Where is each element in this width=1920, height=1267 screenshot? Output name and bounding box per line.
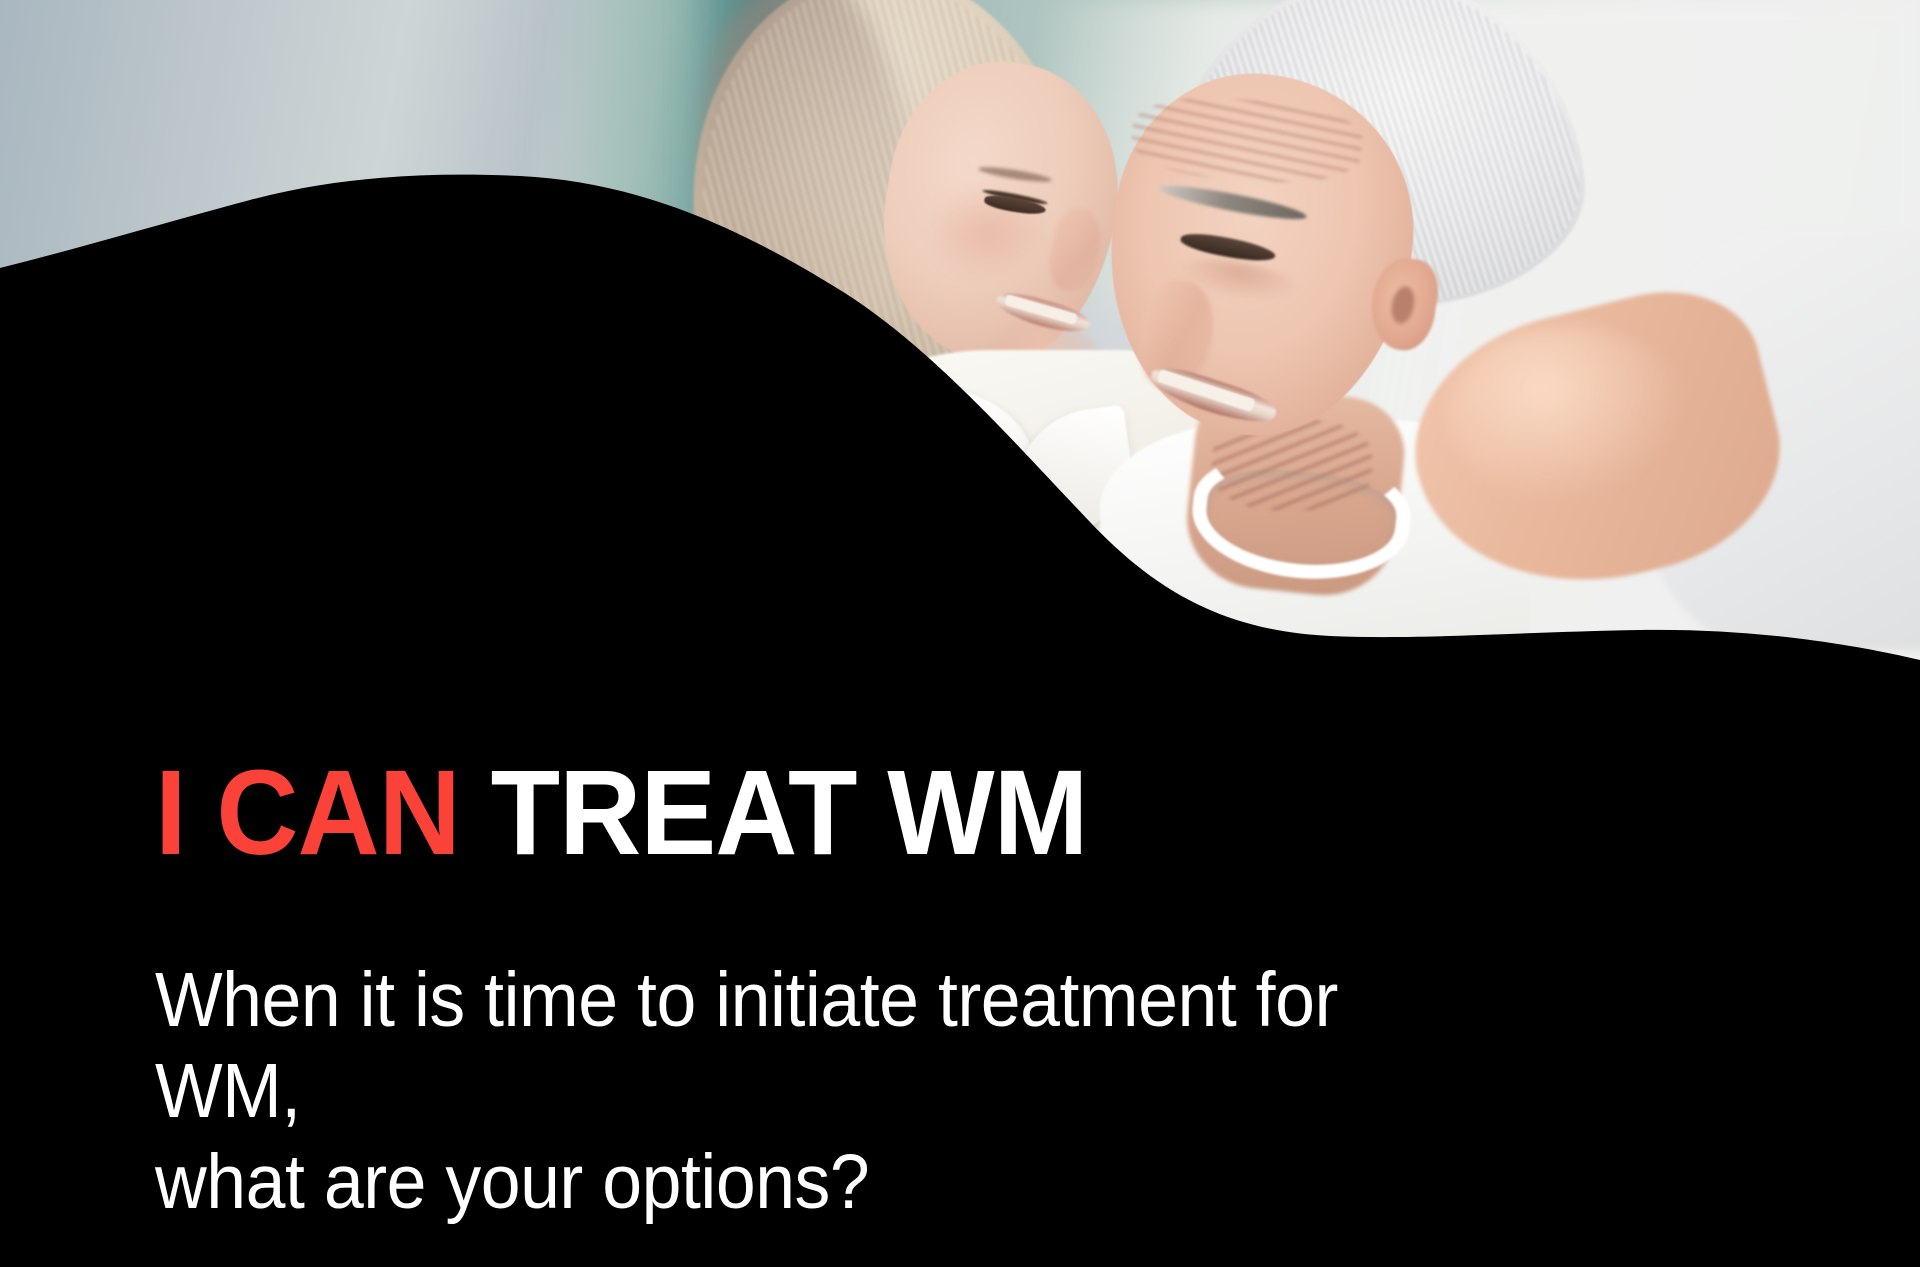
subtitle-line-1: When it is time to initiate treatment fo… <box>155 955 1457 1137</box>
elderly-couple-photo <box>0 0 1920 700</box>
headline-accent: I CAN <box>155 744 460 880</box>
subtitle-line-2: what are your options? <box>155 1137 1457 1228</box>
hero-banner: I CAN TREAT WM When it is time to initia… <box>0 0 1920 1267</box>
headline-rest: TREAT WM <box>460 744 1088 880</box>
hero-text-block: I CAN TREAT WM When it is time to initia… <box>155 752 1555 1228</box>
page-subtitle: When it is time to initiate treatment fo… <box>155 955 1457 1228</box>
woman-shirt-button <box>1032 510 1049 527</box>
older-man-figure <box>1080 0 1780 630</box>
arm-highlight <box>1448 326 1688 506</box>
page-title: I CAN TREAT WM <box>155 752 1471 873</box>
